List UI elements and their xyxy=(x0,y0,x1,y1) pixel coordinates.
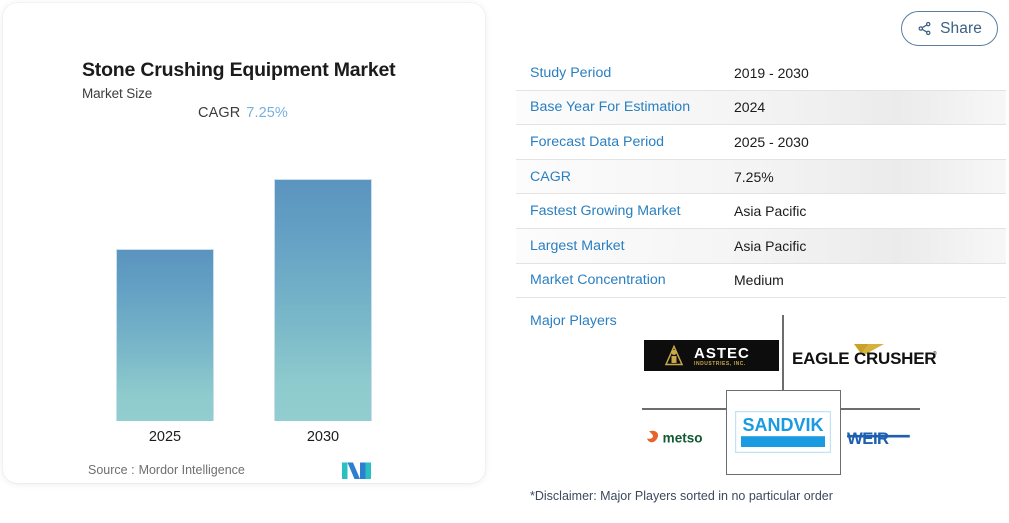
market-summary-page: Stone Crushing Equipment Market Market S… xyxy=(0,0,1009,523)
market-spec-table: Study Period 2019 - 2030 Base Year For E… xyxy=(516,56,1006,298)
bar-2025[interactable] xyxy=(116,249,214,421)
table-row: Base Year For Estimation 2024 xyxy=(516,91,1006,126)
svg-text:SANDVIK: SANDVIK xyxy=(742,415,823,435)
market-size-chart-card: Stone Crushing Equipment Market Market S… xyxy=(3,3,485,483)
x-axis-tick-2030: 2030 xyxy=(274,429,372,445)
spec-key: Fastest Growing Market xyxy=(516,203,734,219)
spec-value: 2024 xyxy=(734,99,765,115)
spec-value: Asia Pacific xyxy=(734,238,806,254)
share-button-label: Share xyxy=(940,20,982,38)
grid-divider-horizontal-left xyxy=(642,408,727,410)
bar-2030[interactable] xyxy=(274,179,372,421)
metso-logo: metso xyxy=(644,420,724,454)
svg-text:INDUSTRIES, INC.: INDUSTRIES, INC. xyxy=(694,361,746,367)
spec-value: 2025 - 2030 xyxy=(734,134,809,150)
bar-chart-plot-area: 2025 2030 xyxy=(3,3,485,483)
share-button[interactable]: Share xyxy=(901,11,998,46)
major-players-disclaimer: *Disclaimer: Major Players sorted in no … xyxy=(530,489,833,503)
weir-logo: WEIR xyxy=(845,420,915,454)
table-row: CAGR 7.25% xyxy=(516,160,1006,195)
share-nodes-icon xyxy=(917,21,932,36)
svg-text:metso: metso xyxy=(663,430,703,445)
major-players-grid: ASTEC INDUSTRIES, INC. EAGLE CRUSHER ® m… xyxy=(600,300,1009,490)
svg-text:ASTEC: ASTEC xyxy=(694,345,750,362)
spec-key: Study Period xyxy=(516,65,734,81)
source-name: Mordor Intelligence xyxy=(139,463,245,477)
spec-key: Market Concentration xyxy=(516,272,734,288)
spec-key: CAGR xyxy=(516,169,734,185)
table-row: Fastest Growing Market Asia Pacific xyxy=(516,194,1006,229)
table-row: Study Period 2019 - 2030 xyxy=(516,56,1006,91)
spec-key: Base Year For Estimation xyxy=(516,99,734,115)
spec-value: 7.25% xyxy=(734,169,774,185)
spec-value: 2019 - 2030 xyxy=(734,65,809,81)
table-row: Largest Market Asia Pacific xyxy=(516,229,1006,264)
svg-text:®: ® xyxy=(933,350,937,357)
table-row: Market Concentration Medium xyxy=(516,264,1006,299)
eagle-crusher-logo: EAGLE CRUSHER ® xyxy=(786,338,941,372)
spec-value: Asia Pacific xyxy=(734,203,806,219)
source-label: Source : xyxy=(88,463,135,477)
chart-source: Source : Mordor Intelligence xyxy=(88,463,245,477)
svg-text:CRUSHER: CRUSHER xyxy=(854,349,936,368)
svg-text:EAGLE: EAGLE xyxy=(792,349,849,368)
grid-divider-horizontal-right xyxy=(840,408,920,410)
spec-key: Largest Market xyxy=(516,238,734,254)
svg-text:WEIR: WEIR xyxy=(847,428,889,447)
sandvik-logo: SANDVIK xyxy=(733,412,833,452)
table-row: Forecast Data Period 2025 - 2030 xyxy=(516,125,1006,160)
spec-key: Forecast Data Period xyxy=(516,134,734,150)
mordor-intelligence-logo xyxy=(341,461,372,480)
x-axis-tick-2025: 2025 xyxy=(116,429,214,445)
spec-value: Medium xyxy=(734,272,784,288)
astec-industries-logo: ASTEC INDUSTRIES, INC. xyxy=(644,338,779,372)
